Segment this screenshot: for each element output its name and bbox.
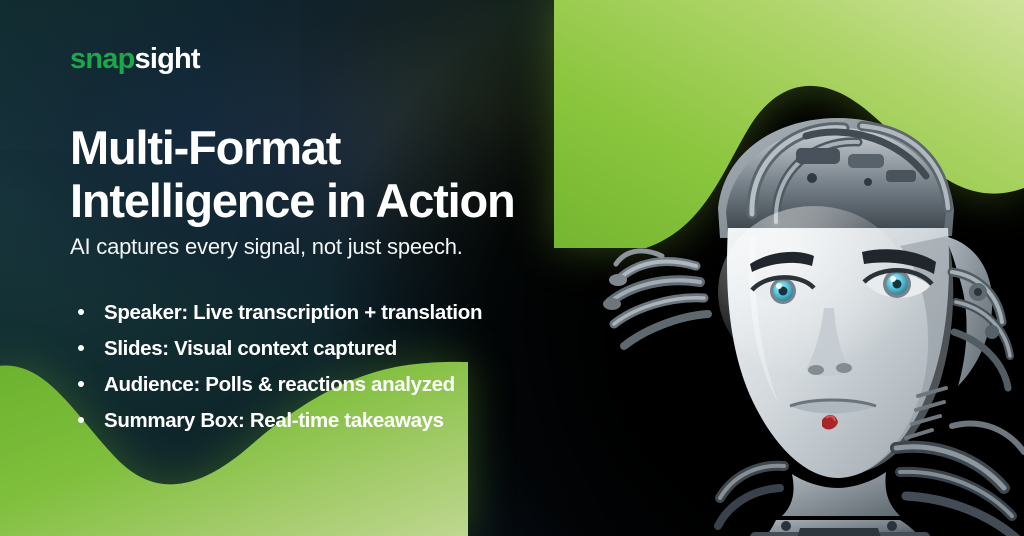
headline-line-1: Multi-Format bbox=[70, 122, 610, 175]
robot-shoulder-cables bbox=[896, 424, 1024, 536]
promo-banner: snapsight Multi-Format Intelligence in A… bbox=[0, 0, 1024, 536]
list-item-label: Summary Box: Real-time takeaways bbox=[104, 409, 444, 432]
headline-line-2: Intelligence in Action bbox=[70, 175, 610, 228]
robot-shoulder-left-cables bbox=[718, 466, 784, 526]
list-item: Summary Box: Real-time takeaways bbox=[76, 406, 482, 435]
subheadline: AI captures every signal, not just speec… bbox=[70, 234, 463, 260]
page-title: Multi-Format Intelligence in Action bbox=[70, 122, 610, 227]
content-column: snapsight Multi-Format Intelligence in A… bbox=[70, 0, 630, 536]
bullet-dot-icon bbox=[78, 309, 84, 315]
robot-right-temple-machinery bbox=[944, 236, 1010, 388]
bullet-dot-icon bbox=[78, 417, 84, 423]
robot-illustration bbox=[600, 96, 1024, 536]
brand-logo[interactable]: snapsight bbox=[70, 45, 200, 74]
list-item-label: Audience: Polls & reactions analyzed bbox=[104, 373, 455, 396]
list-item-label: Slides: Visual context captured bbox=[104, 337, 397, 360]
brand-logo-sight: sight bbox=[135, 43, 200, 75]
bullet-dot-icon bbox=[78, 381, 84, 387]
bullet-dot-icon bbox=[78, 345, 84, 351]
robot-jaw-vents bbox=[906, 388, 946, 438]
brand-logo-snap: snap bbox=[70, 43, 135, 75]
feature-list: Speaker: Live transcription + translatio… bbox=[76, 298, 482, 442]
list-item: Slides: Visual context captured bbox=[76, 334, 482, 363]
robot-face bbox=[718, 206, 953, 478]
list-item: Speaker: Live transcription + translatio… bbox=[76, 298, 482, 327]
robot-crown-machinery bbox=[718, 118, 954, 238]
list-item: Audience: Polls & reactions analyzed bbox=[76, 370, 482, 399]
robot-right-eye bbox=[864, 270, 932, 298]
robot-neck-torso bbox=[750, 472, 930, 536]
list-item-label: Speaker: Live transcription + translatio… bbox=[104, 301, 482, 324]
robot-left-eye bbox=[752, 277, 814, 304]
